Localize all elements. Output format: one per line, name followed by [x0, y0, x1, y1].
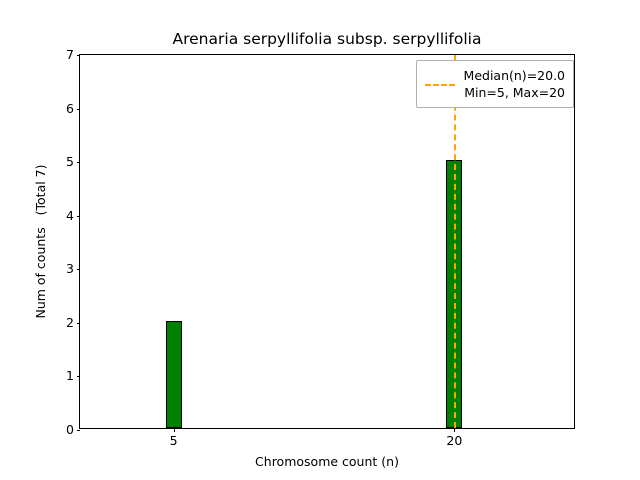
- y-tick-label-3: 3: [66, 263, 74, 276]
- figure-canvas: Arenaria serpyllifolia subsp. serpyllifo…: [0, 0, 640, 480]
- plot-inner: [80, 55, 574, 428]
- x-tick-mark-20: [454, 428, 455, 432]
- y-tick-mark-0: [77, 430, 81, 431]
- y-tick-mark-4: [77, 216, 81, 217]
- x-tick-mark-5: [174, 428, 175, 432]
- chart-legend: Median(n)=20.0 Min=5, Max=20: [416, 60, 574, 108]
- y-tick-mark-2: [77, 323, 81, 324]
- legend-median-label: Median(n)=20.0: [464, 67, 565, 84]
- legend-entry-median: Median(n)=20.0 Min=5, Max=20: [425, 67, 565, 101]
- x-axis-label: Chromosome count (n): [79, 455, 575, 469]
- plot-area: 01234567 520 Median(n)=20.0 Min=5, Max=2…: [79, 54, 575, 429]
- y-tick-mark-3: [77, 269, 81, 270]
- x-tick-label-20: 20: [446, 434, 462, 447]
- y-tick-mark-7: [77, 55, 81, 56]
- legend-entry-text: Median(n)=20.0 Min=5, Max=20: [464, 67, 565, 101]
- y-tick-label-7: 7: [66, 49, 74, 62]
- y-tick-label-4: 4: [66, 209, 74, 222]
- y-tick-label-6: 6: [66, 102, 74, 115]
- chart-title: Arenaria serpyllifolia subsp. serpyllifo…: [79, 30, 575, 48]
- y-tick-mark-5: [77, 162, 81, 163]
- y-tick-label-5: 5: [66, 156, 74, 169]
- y-tick-label-0: 0: [66, 424, 74, 437]
- median-line: [454, 55, 456, 428]
- y-tick-label-2: 2: [66, 317, 74, 330]
- x-tick-label-5: 5: [170, 434, 178, 447]
- dashed-line-icon: [425, 78, 455, 90]
- y-tick-mark-6: [77, 109, 81, 110]
- bar-5: [166, 321, 182, 428]
- y-tick-mark-1: [77, 376, 81, 377]
- legend-range-label: Min=5, Max=20: [464, 84, 565, 101]
- y-tick-label-1: 1: [66, 370, 74, 383]
- y-axis-label: Num of counts (Total 7): [32, 54, 50, 429]
